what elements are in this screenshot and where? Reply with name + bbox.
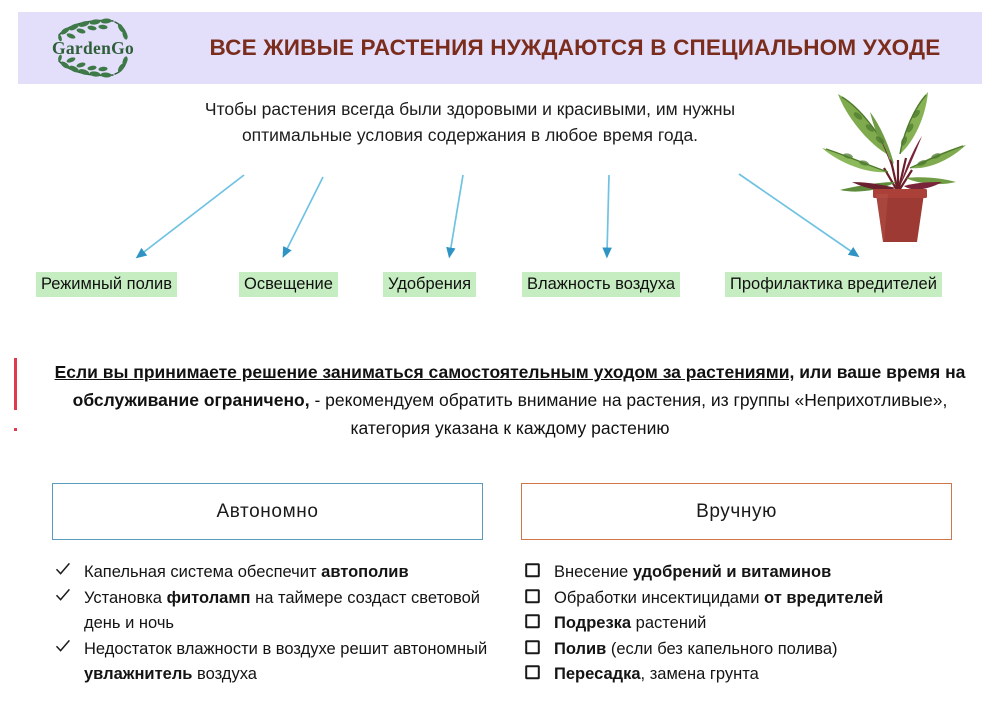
check-icon — [54, 586, 76, 604]
list-item-bold: от вредителей — [764, 589, 883, 607]
recommendation-text: Если вы принимаете решение заниматься са… — [34, 358, 986, 442]
checkbox-empty-icon[interactable] — [524, 663, 546, 681]
list-item-post: (если без капельного полива) — [606, 640, 837, 658]
manual-list: Внесение удобрений и витаминов Обработки… — [518, 560, 978, 688]
intro-line-1: Чтобы растения всегда были здоровыми и к… — [150, 96, 790, 122]
arrow-3 — [450, 175, 463, 253]
column-header-manual[interactable]: Вручную — [521, 483, 952, 540]
list-item-post: , замена грунта — [641, 665, 759, 683]
intro-paragraph: Чтобы растения всегда были здоровыми и к… — [150, 96, 790, 148]
intro-line-2: оптимальные условия содержания в любое в… — [150, 122, 790, 148]
arrow-2 — [285, 177, 323, 253]
page-title: ВСЕ ЖИВЫЕ РАСТЕНИЯ НУЖДАЮТСЯ В СПЕЦИАЛЬН… — [168, 12, 982, 84]
list-item-bold: удобрений и витаминов — [633, 563, 831, 581]
accent-bar — [14, 358, 17, 410]
arrow-1 — [140, 175, 244, 255]
list-item-bold: Подрезка — [554, 614, 631, 632]
list-item: Недостаток влажности в воздухе решит авт… — [46, 637, 496, 688]
list-item-bold: фитоламп — [167, 589, 251, 607]
checkbox-empty-icon[interactable] — [524, 587, 546, 605]
tag-air-humidity[interactable]: Влажность воздуха — [522, 272, 680, 297]
list-item: Подрезка растений — [518, 611, 978, 637]
care-tags-row: Режимный полив Освещение Удобрения Влажн… — [30, 272, 980, 298]
check-icon — [54, 560, 76, 578]
list-item: Пересадка, замена грунта — [518, 662, 978, 688]
accent-dot — [14, 428, 17, 431]
arrow-4 — [607, 175, 609, 253]
plant-photo — [818, 86, 982, 254]
recommendation-emphasis-1: Если вы принимаете решение заниматься са… — [55, 362, 795, 382]
list-item-bold: автополив — [321, 563, 408, 581]
recommendation-block: Если вы принимаете решение заниматься са… — [14, 358, 986, 444]
checkbox-empty-icon[interactable] — [524, 612, 546, 630]
checkbox-empty-icon[interactable] — [524, 638, 546, 656]
list-item: Внесение удобрений и витаминов — [518, 560, 978, 586]
recommendation-rest: - рекомендуем обратить внимание на расте… — [310, 390, 948, 438]
calathea-plant-illustration — [818, 86, 982, 254]
autonomous-list: Капельная система обеспечит автополив Ус… — [46, 560, 496, 688]
brand-logo-text: GardenGo — [52, 38, 134, 58]
list-item-pre: Обработки инсектицидами — [554, 589, 764, 607]
tag-fertilizers[interactable]: Удобрения — [383, 272, 476, 297]
list-item-pre: Внесение — [554, 563, 633, 581]
list-item-bold: увлажнитель — [84, 665, 192, 683]
laurel-wreath-icon: GardenGo — [29, 15, 157, 81]
list-item-pre: Установка — [84, 589, 167, 607]
list-item-pre: Капельная система обеспечит — [84, 563, 321, 581]
list-item: Капельная система обеспечит автополив — [46, 560, 496, 586]
tag-regular-watering[interactable]: Режимный полив — [36, 272, 177, 297]
list-item: Полив (если без капельного полива) — [518, 637, 978, 663]
list-item: Установка фитоламп на таймере создаст св… — [46, 586, 496, 637]
checkbox-empty-icon[interactable] — [524, 561, 546, 579]
list-item: Обработки инсектицидами от вредителей — [518, 586, 978, 612]
column-header-autonomous[interactable]: Автономно — [52, 483, 483, 540]
tag-pest-prevention[interactable]: Профилактика вредителей — [725, 272, 942, 297]
tag-lighting[interactable]: Освещение — [239, 272, 338, 297]
header-band: GardenGo ВСЕ ЖИВЫЕ РАСТЕНИЯ НУЖДАЮТСЯ В … — [18, 12, 982, 84]
list-item-bold: Пересадка — [554, 665, 641, 683]
check-icon — [54, 637, 76, 655]
list-item-pre: Недостаток влажности в воздухе решит авт… — [84, 640, 487, 658]
list-item-post: воздуха — [192, 665, 256, 683]
list-item-post: растений — [631, 614, 706, 632]
list-item-bold: Полив — [554, 640, 606, 658]
brand-logo[interactable]: GardenGo — [18, 12, 168, 84]
